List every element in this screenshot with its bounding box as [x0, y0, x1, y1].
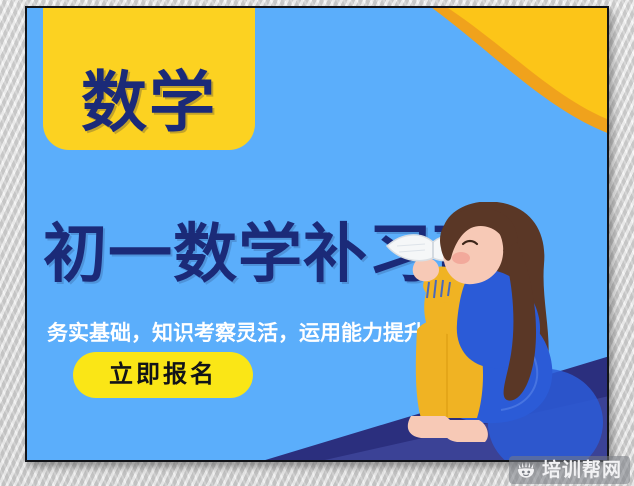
poster-canvas: 数学 初一数学补习班 务实基础，知识考察灵活，运用能力提升 立即报名 [27, 8, 607, 460]
signup-button[interactable]: 立即报名 [73, 352, 253, 398]
poster-frame: 数学 初一数学补习班 务实基础，知识考察灵活，运用能力提升 立即报名 [25, 6, 609, 462]
watermark: 培训帮网 [509, 456, 630, 484]
signup-button-label: 立即报名 [109, 363, 217, 387]
girl-reading-book-illustration [381, 202, 607, 452]
sun-face-icon [515, 459, 537, 481]
page-backdrop: 数学 初一数学补习班 务实基础，知识考察灵活，运用能力提升 立即报名 [0, 0, 634, 486]
poster-subtitle: 务实基础，知识考察灵活，运用能力提升 [47, 321, 425, 346]
foot-right [444, 420, 488, 442]
watermark-text: 培训帮网 [542, 461, 622, 480]
subject-badge-label: 数学 [81, 70, 217, 136]
illustration-svg [381, 202, 607, 452]
cheek-blush [452, 252, 470, 264]
subject-badge: 数学 [43, 8, 255, 150]
